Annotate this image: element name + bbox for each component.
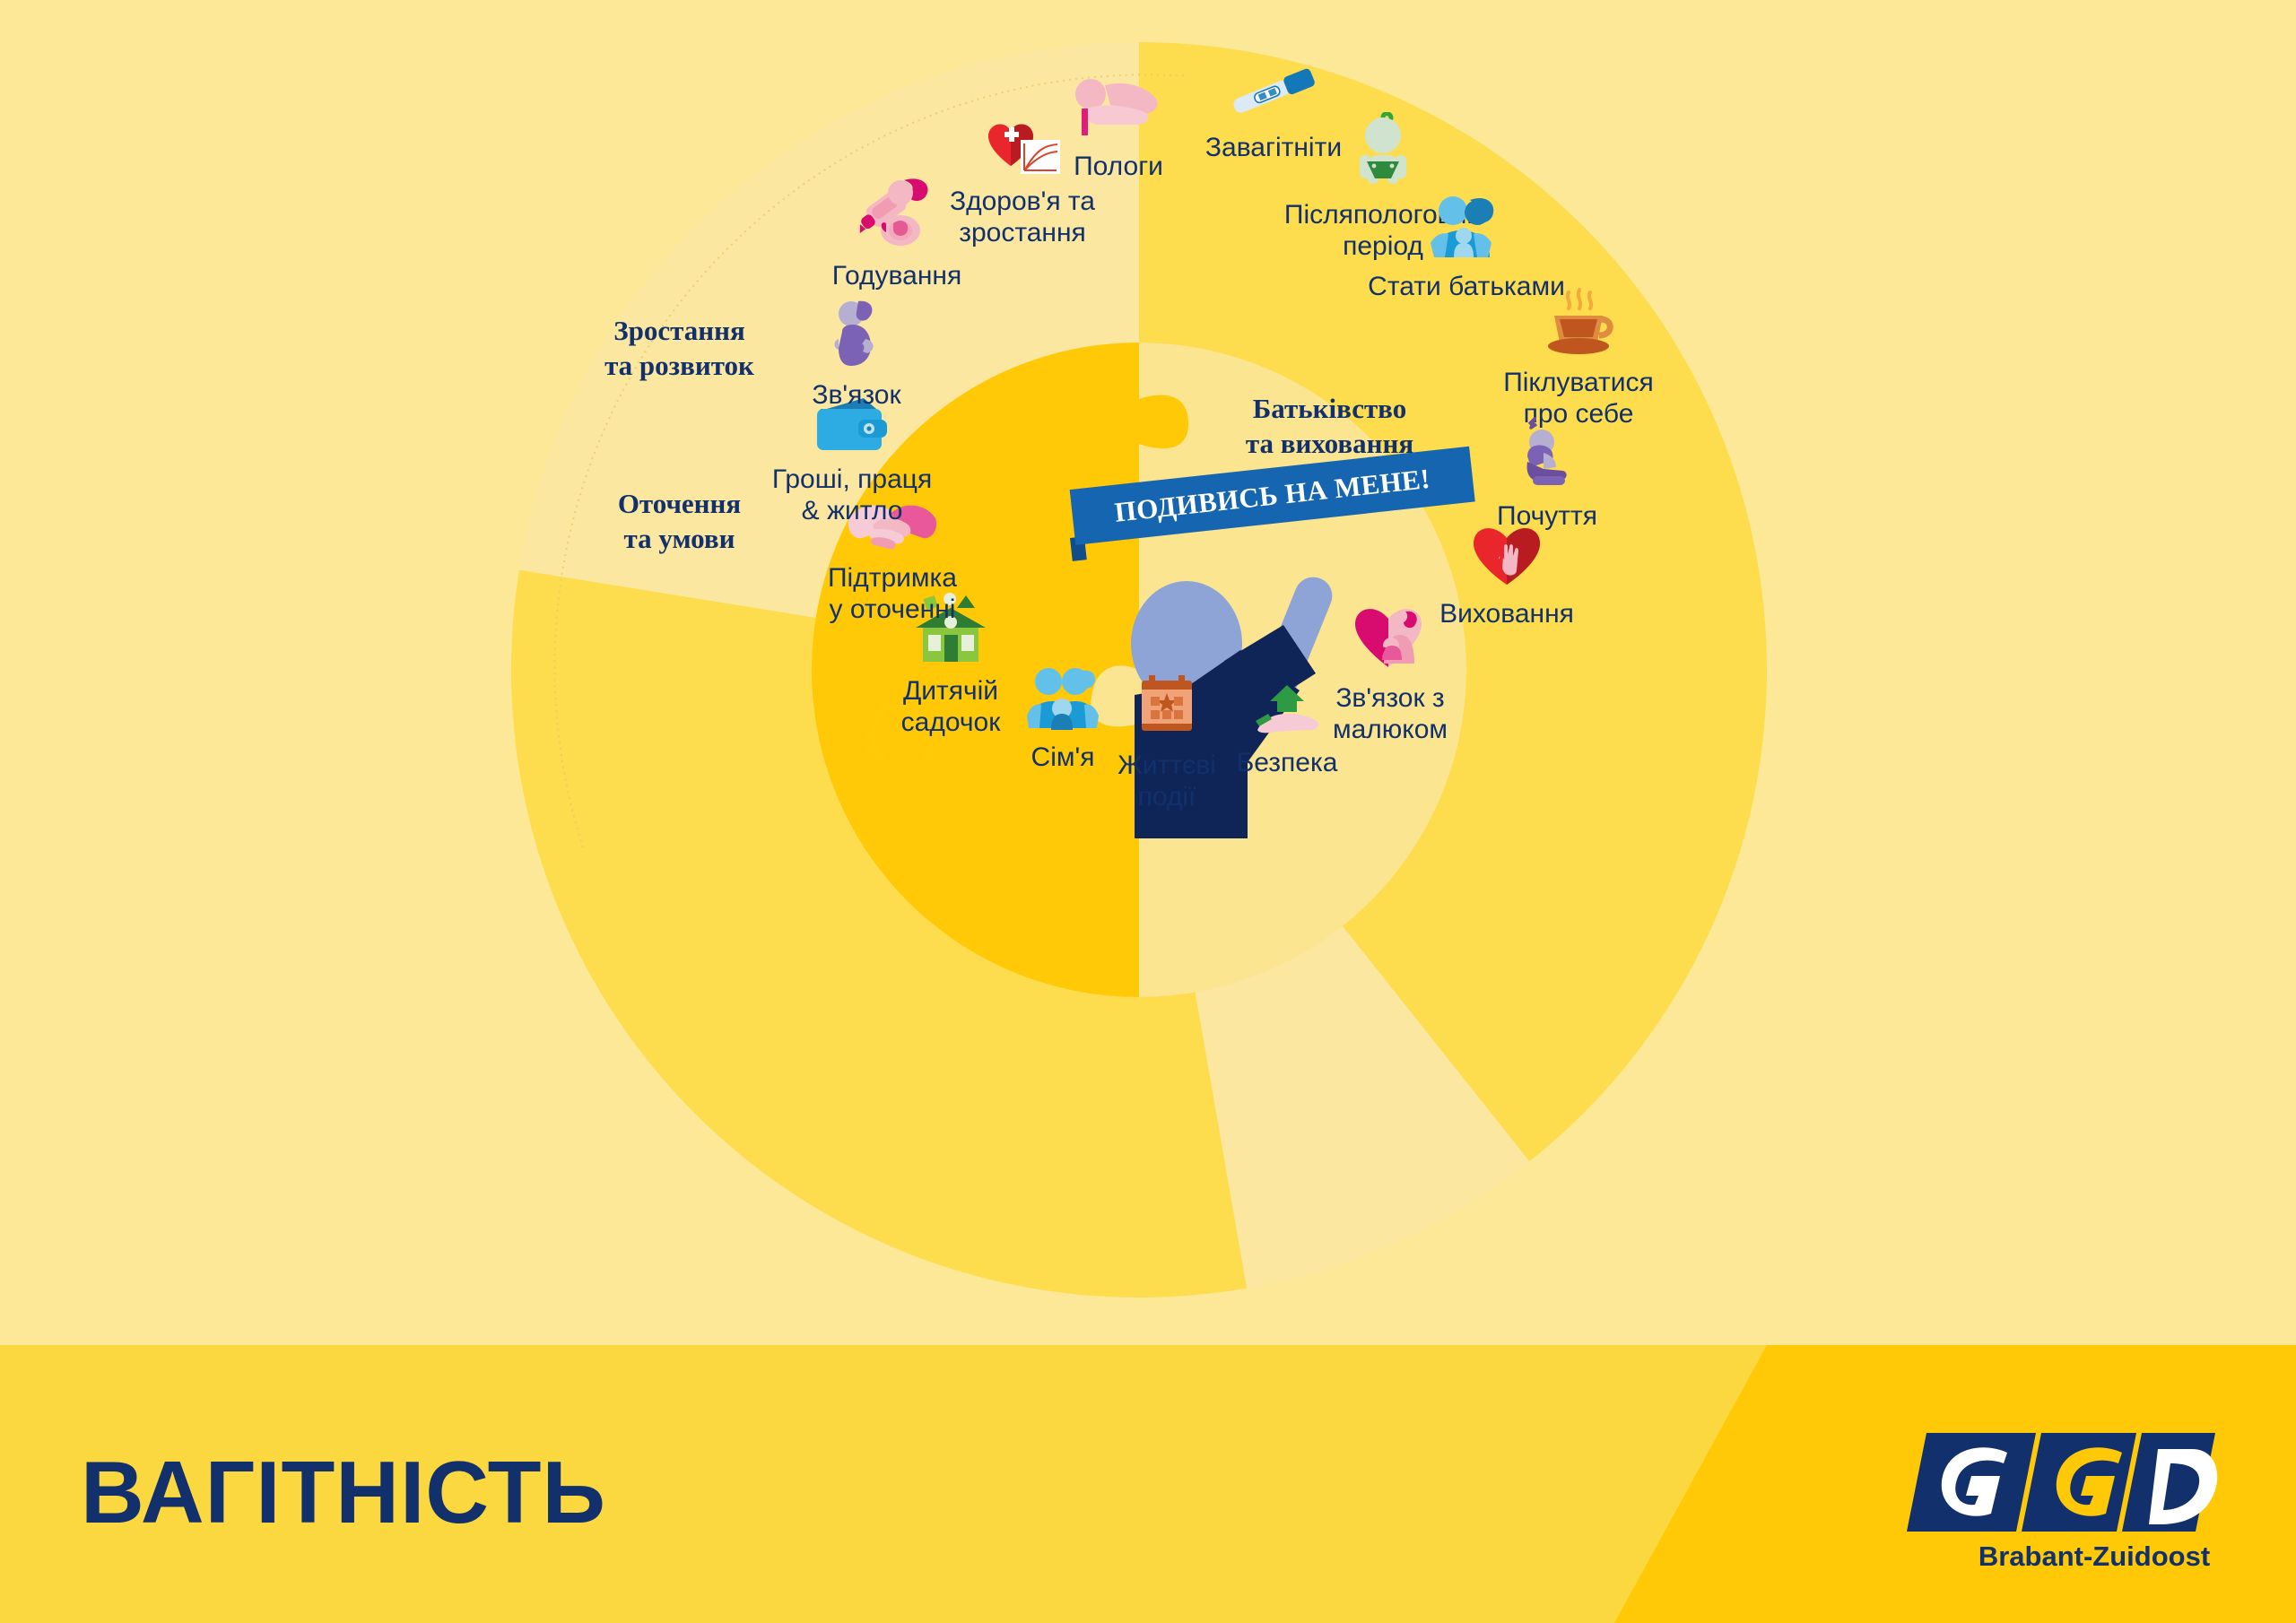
page-title: ВАГІТНІСТЬ: [81, 1448, 606, 1536]
heart-mother-baby-icon: [1278, 601, 1502, 677]
ring-label-connection: Зв'язок: [767, 379, 946, 411]
ring-label-daycare: Дитячій садочок: [848, 675, 1054, 739]
baby-diaper-icon: [1253, 112, 1513, 194]
parents-hug-icon: [1332, 193, 1601, 265]
pregnancy-wheel: Зростання та розвиток Батьківство та вих…: [507, 22, 1771, 1323]
heart-hands-icon: [1395, 520, 1619, 593]
poster-canvas: Зростання та розвиток Батьківство та вих…: [0, 0, 2296, 1623]
pregnant-woman-icon: [767, 296, 946, 374]
ring-item-self-care[interactable]: Піклуватися про себе: [1462, 287, 1695, 430]
ring-item-feeding[interactable]: Годування: [794, 175, 1000, 291]
coffee-cup-icon: [1462, 287, 1695, 361]
ggd-logo-subtitle: Brabant-Zuidoost: [1942, 1541, 2247, 1573]
ring-item-feelings[interactable]: Почуття: [1444, 417, 1650, 532]
sitting-person-icon: [1444, 417, 1650, 495]
ring-label-money-work: Гроші, праця & житло: [731, 464, 973, 527]
ring-label-family: Сім'я: [973, 742, 1152, 773]
ring-item-connection[interactable]: Зв'язок: [767, 296, 946, 411]
baby-bottle-icon: [794, 175, 1000, 255]
ggd-logo-mark: [1901, 1417, 2242, 1551]
ring-label-support: Підтримка у оточенні: [776, 562, 1009, 626]
ring-label-feeding: Годування: [794, 260, 1000, 291]
ring-item-money-work[interactable]: Гроші, праця & житло: [731, 395, 973, 527]
